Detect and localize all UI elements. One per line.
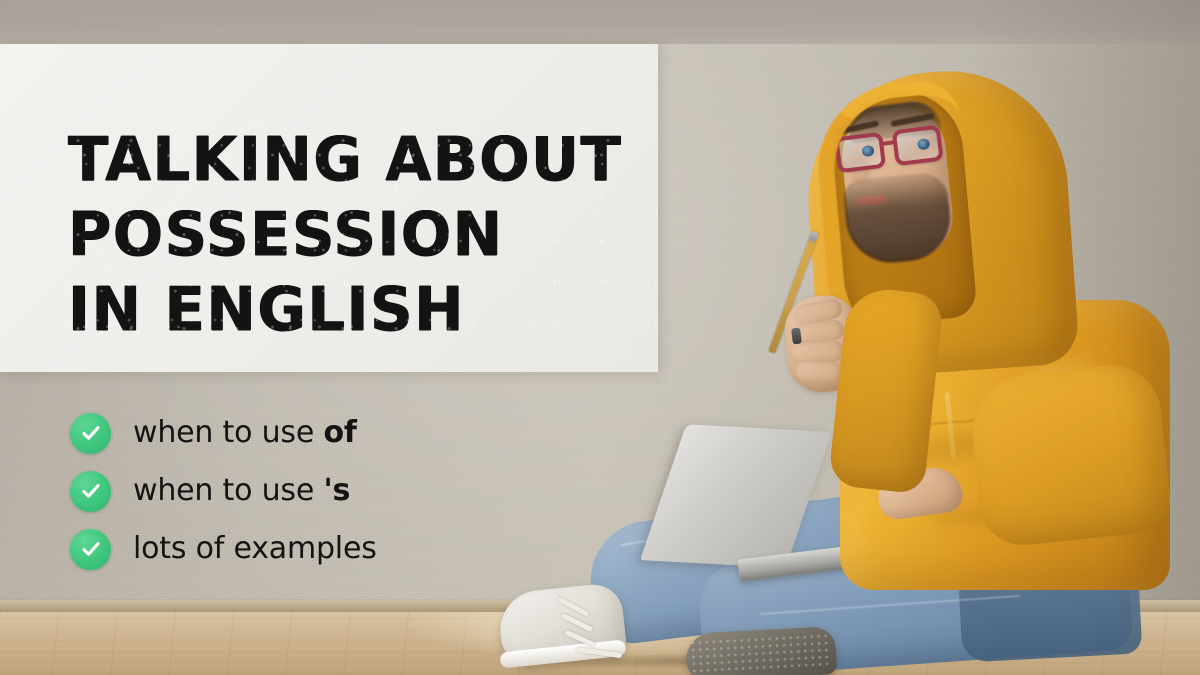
title-panel: TALKING ABOUT POSSESSION IN ENGLISH: [0, 44, 658, 372]
hoodie-sleeve-right: [967, 361, 1174, 550]
bullet-label-1: when to use of: [133, 416, 357, 450]
finger: [792, 341, 845, 364]
bullet-label-3: lots of examples: [133, 532, 377, 566]
list-item: lots of examples: [70, 520, 590, 578]
bullet-label-2: when to use 's: [133, 474, 350, 508]
bullet-text-normal: lots of examples: [133, 531, 377, 566]
title-line-2: POSSESSION: [68, 197, 631, 272]
feature-bullet-list: when to use of when to use 's lots of ex…: [70, 404, 590, 578]
slide-canvas: TALKING ABOUT POSSESSION IN ENGLISH when…: [0, 0, 1200, 675]
bullet-text-normal: when to use: [133, 415, 323, 450]
list-item: when to use of: [70, 404, 590, 462]
title-line-3: IN ENGLISH: [68, 272, 631, 347]
finger-ring: [791, 328, 802, 345]
check-circle-icon: [70, 471, 111, 512]
list-item: when to use 's: [70, 462, 590, 520]
bullet-text-normal: when to use: [133, 473, 323, 508]
page-title: TALKING ABOUT POSSESSION IN ENGLISH: [68, 122, 631, 347]
check-circle-icon: [70, 413, 111, 454]
check-circle-icon: [70, 529, 111, 570]
finger: [796, 361, 843, 382]
title-line-1: TALKING ABOUT: [68, 122, 631, 197]
bullet-text-emphasis: of: [323, 415, 356, 450]
sneaker-right-texture: [689, 632, 831, 675]
bullet-text-emphasis: 's: [323, 473, 350, 508]
